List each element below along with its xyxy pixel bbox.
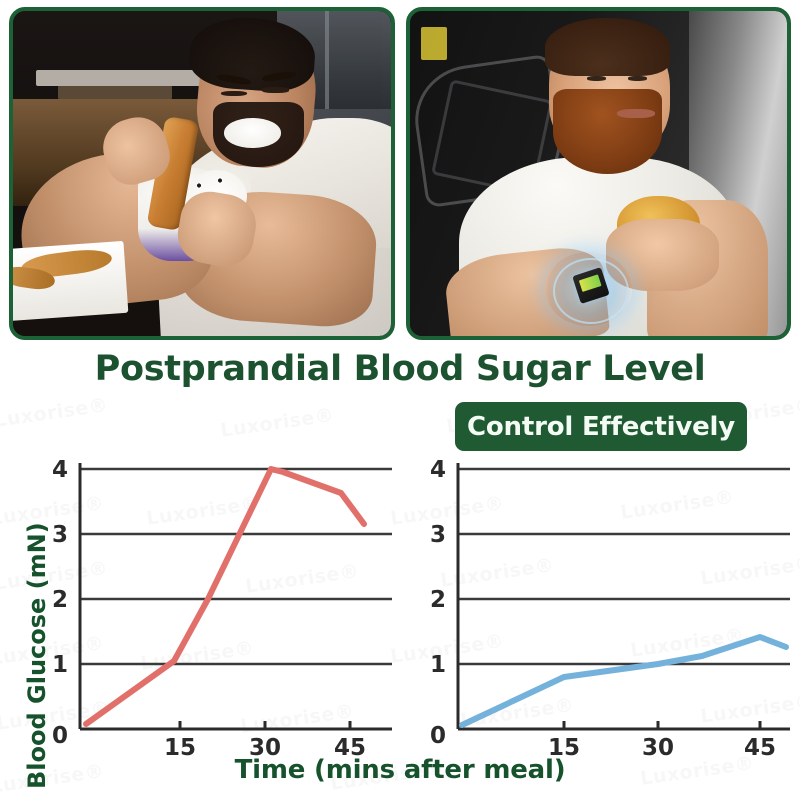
y-tick-1: 1 bbox=[52, 652, 68, 678]
y-tick-3: 3 bbox=[52, 522, 68, 548]
y-tick-1: 1 bbox=[430, 652, 446, 678]
series-line-controlled bbox=[462, 637, 786, 725]
infographic-page: Luxorise® Luxorise® Luxorise® Luxorise® … bbox=[0, 0, 800, 800]
y-axis-label: Blood Glucose (mN) bbox=[23, 529, 51, 789]
y-tick-4: 4 bbox=[430, 457, 446, 483]
photo-man-with-glucose-monitor bbox=[406, 7, 792, 340]
photo-man-eating-dessert bbox=[9, 7, 395, 340]
badge-label: Control Effectively bbox=[467, 412, 735, 442]
gridlines bbox=[458, 469, 790, 664]
y-tick-4: 4 bbox=[52, 457, 68, 483]
chart-uncontrolled-svg: 4 3 2 1 0 15 30 45 bbox=[62, 455, 392, 755]
y-tick-labels: 4 3 2 1 0 bbox=[430, 457, 446, 749]
y-tick-2: 2 bbox=[52, 587, 68, 613]
control-effectively-badge: Control Effectively bbox=[455, 402, 747, 451]
y-tick-2: 2 bbox=[430, 587, 446, 613]
chart-uncontrolled: 4 3 2 1 0 15 30 45 bbox=[62, 455, 392, 755]
photo-row bbox=[0, 0, 800, 340]
watermark: Luxorise® bbox=[219, 404, 335, 442]
y-tick-0: 0 bbox=[430, 723, 446, 749]
y-tick-labels: 4 3 2 1 0 bbox=[52, 457, 68, 749]
y-tick-3: 3 bbox=[430, 522, 446, 548]
watermark: Luxorise® bbox=[0, 394, 110, 432]
charts-section: Blood Glucose (mN) 4 bbox=[0, 455, 800, 800]
axes bbox=[458, 463, 790, 729]
x-axis-label: Time (mins after meal) bbox=[0, 755, 800, 785]
chart-controlled: 4 3 2 1 0 15 30 45 bbox=[440, 455, 790, 755]
y-tick-0: 0 bbox=[52, 723, 68, 749]
series-line-uncontrolled bbox=[86, 469, 364, 724]
page-title: Postprandial Blood Sugar Level bbox=[0, 349, 800, 389]
chart-controlled-svg: 4 3 2 1 0 15 30 45 bbox=[440, 455, 790, 755]
